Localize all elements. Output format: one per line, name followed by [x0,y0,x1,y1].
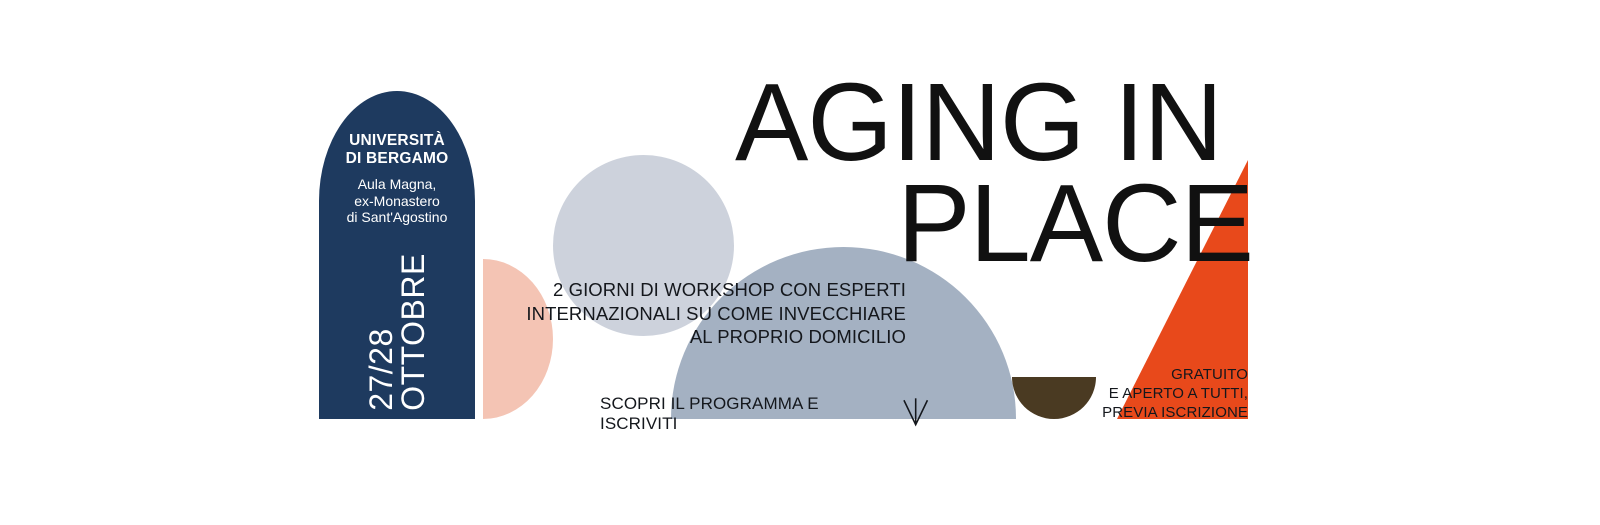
university-name-line2: DI BERGAMO [346,150,449,167]
university-name-line1: UNIVERSITÀ [349,132,445,149]
event-date-day: 27/28 [365,253,397,411]
free-entry-line1: GRATUITO [1048,366,1248,385]
venue-address: Aula Magna, ex-Monastero di Sant'Agostin… [319,176,475,226]
free-entry-line3: PREVIA ISCRIZIONE [1048,404,1248,423]
poster-title-line1: AGING IN [735,72,1255,173]
event-description: 2 GIORNI DI WORKSHOP CON ESPERTI INTERNA… [470,278,906,349]
arrow-down-icon [901,396,930,430]
event-date-text: 27/28 OTTOBRE [365,253,429,411]
event-description-line1: 2 GIORNI DI WORKSHOP CON ESPERTI [553,279,906,300]
venue-line2: ex-Monastero [354,193,440,209]
event-date-rotated: 27/28 OTTOBRE [319,245,475,419]
free-entry-note: GRATUITO E APERTO A TUTTI, PREVIA ISCRIZ… [1048,366,1248,422]
event-description-line2: INTERNAZIONALI SU COME INVECCHIARE [526,303,906,324]
venue-line3: di Sant'Agostino [347,209,448,225]
cta-label: SCOPRI IL PROGRAMMA E ISCRIVITI [600,394,895,434]
event-date-month: OTTOBRE [397,253,429,411]
cta-link[interactable]: SCOPRI IL PROGRAMMA E ISCRIVITI [600,394,930,434]
poster-title: AGING IN PLACE [735,72,1255,274]
venue-line1: Aula Magna, [358,176,437,192]
free-entry-line2: E APERTO A TUTTI, [1048,385,1248,404]
poster-title-line2: PLACE [735,173,1255,274]
poster-canvas: UNIVERSITÀ DI BERGAMO Aula Magna, ex-Mon… [0,0,1600,525]
university-name: UNIVERSITÀ DI BERGAMO [319,132,475,167]
event-description-line3: AL PROPRIO DOMICILIO [690,326,906,347]
